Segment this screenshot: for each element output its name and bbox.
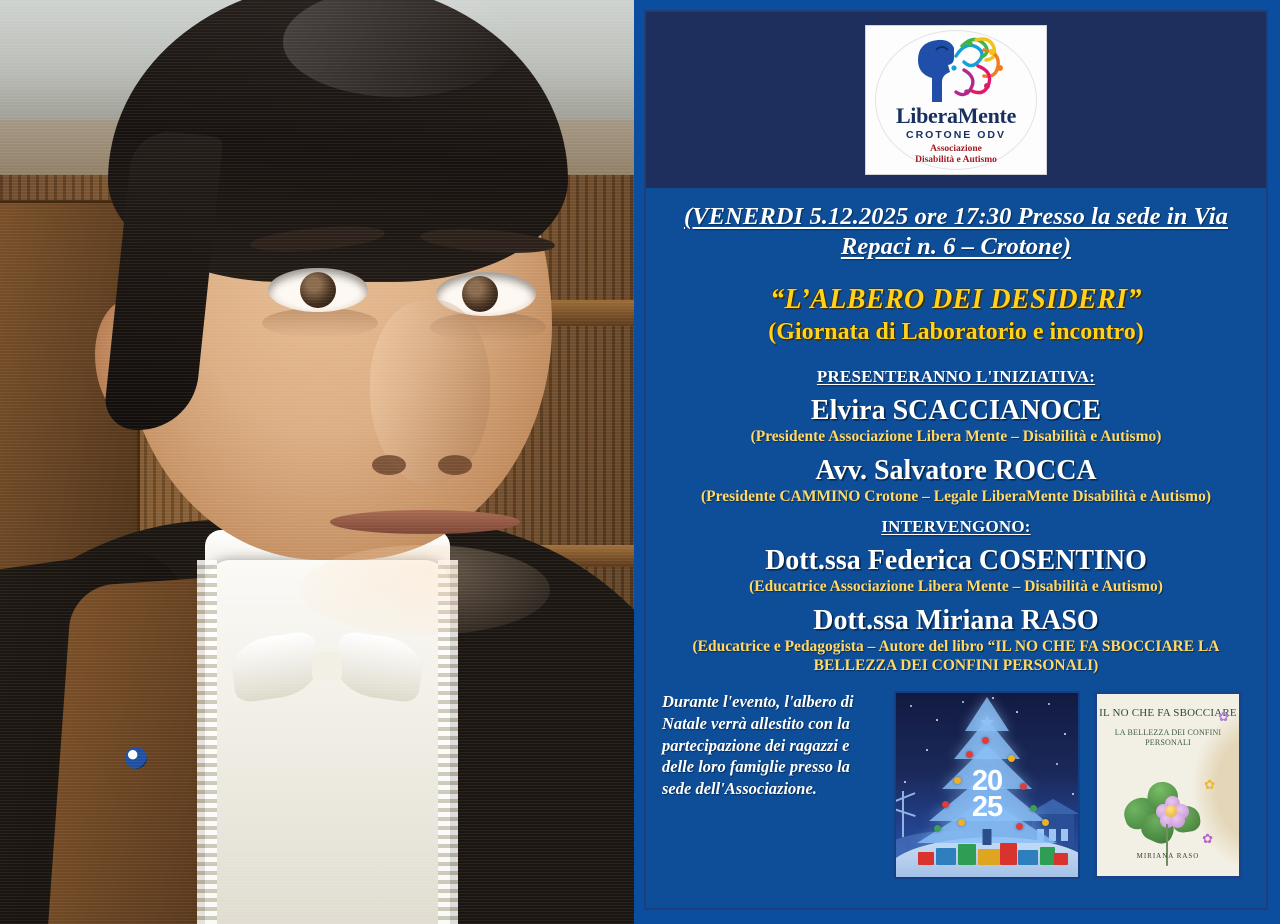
photo-mouth <box>330 510 520 534</box>
event-date-line: (VENERDI 5.12.2025 ore 17:30 Presso la s… <box>660 202 1252 262</box>
photo-nostril-right <box>438 455 472 475</box>
tree-bare-tree <box>902 791 904 837</box>
speaker-role: (Presidente CAMMINO Crotone – Legale Lib… <box>660 488 1252 507</box>
event-subtitle: (Giornata di Laboratorio e incontro) <box>660 319 1252 346</box>
speaker-name: Dott.ssa Federica COSENTINO <box>660 545 1252 576</box>
photo-iris-left <box>300 272 336 308</box>
book-flower-illustration <box>1122 780 1214 846</box>
speaker-name: Dott.ssa Miriana RASO <box>660 605 1252 636</box>
book-butterfly-icon: ✿ <box>1202 832 1213 845</box>
logo-subtitle: CROTONE ODV <box>906 129 1006 141</box>
speaker-name: Elvira SCACCIANOCE <box>660 395 1252 426</box>
poster-bottom-row: Durante l'evento, l'albero di Natale ver… <box>646 675 1266 879</box>
photo-chin <box>300 545 550 635</box>
christmas-tree-image: ★ 2025 <box>894 691 1080 879</box>
section-heading-speakers: INTERVENGONO: <box>660 517 1252 537</box>
photo-lace-trim-left <box>197 560 217 924</box>
event-poster: LiberaMente CROTONE ODV Associazione Dis… <box>634 0 1280 924</box>
book-flower <box>1156 796 1186 826</box>
poster-inner-frame: LiberaMente CROTONE ODV Associazione Dis… <box>644 10 1268 910</box>
book-cover-image: IL NO CHE FA SBOCCIARE LA BELLEZZA DEI C… <box>1094 691 1242 879</box>
photo-undereye-left <box>262 308 378 338</box>
logo-band: LiberaMente CROTONE ODV Associazione Dis… <box>646 12 1266 188</box>
logo-wordmark: LiberaMente <box>896 105 1016 127</box>
logo-tagline: Associazione Disabilità e Autismo <box>915 144 997 166</box>
association-logo: LiberaMente CROTONE ODV Associazione Dis… <box>866 26 1046 174</box>
photo-iris-right <box>462 276 498 312</box>
speaker-name: Avv. Salvatore ROCCA <box>660 455 1252 486</box>
logo-tagline-line2: Disabilità e Autismo <box>915 155 997 165</box>
poster-body: (VENERDI 5.12.2025 ore 17:30 Presso la s… <box>646 188 1266 675</box>
tree-year-label: 2025 <box>972 768 1002 821</box>
book-author: MIRIANA RASO <box>1097 852 1239 860</box>
section-heading-presenters: PRESENTERANNO L'INIZIATIVA: <box>660 367 1252 387</box>
event-title: “L’ALBERO DEI DESIDERI” <box>660 284 1252 316</box>
book-butterfly-icon: ✿ <box>1218 710 1229 723</box>
speaker-role: (Educatrice Associazione Libera Mente – … <box>660 578 1252 597</box>
poster-stage: LiberaMente CROTONE ODV Associazione Dis… <box>0 0 1280 924</box>
event-note: Durante l'evento, l'albero di Natale ver… <box>662 691 880 800</box>
portrait-photo <box>0 0 634 924</box>
photo-hair-highlight <box>283 0 513 97</box>
photo-lapel-pin <box>125 747 147 769</box>
photo-bow-tie <box>232 636 422 698</box>
book-butterfly-icon: ✿ <box>1204 778 1215 791</box>
head-with-swirls-icon <box>892 34 1020 104</box>
logo-tagline-line1: Associazione <box>930 144 982 154</box>
speaker-role: (Educatrice e Pedagogista – Autore del l… <box>660 638 1252 675</box>
speaker-role: (Presidente Associazione Libera Mente – … <box>660 428 1252 447</box>
photo-nostril-left <box>372 455 406 475</box>
